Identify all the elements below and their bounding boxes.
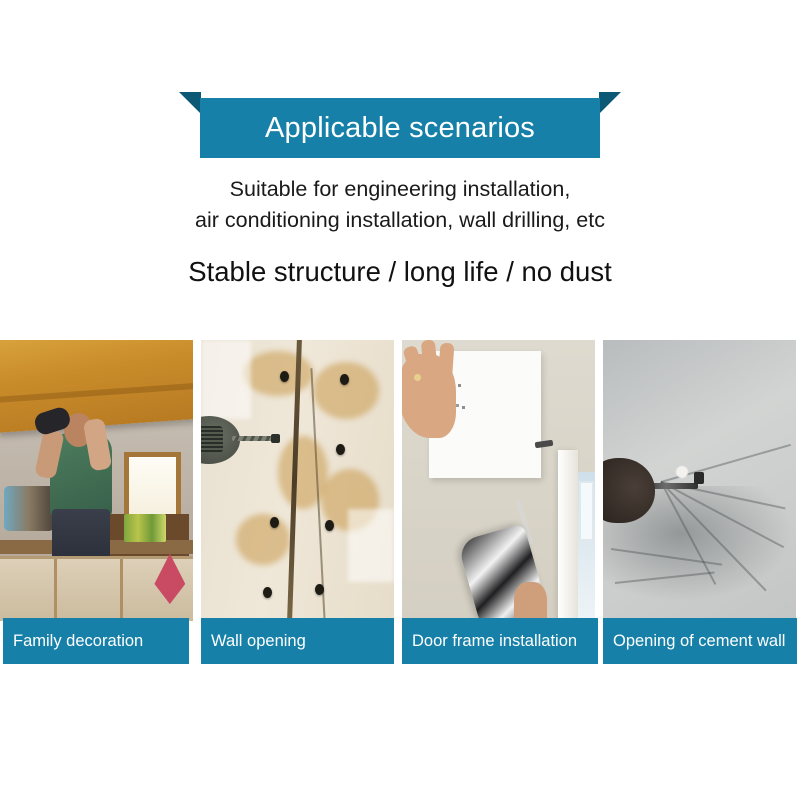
- drill-tip-shape: [694, 472, 704, 484]
- drilled-hole-shape: [280, 371, 289, 382]
- scenario-gallery: Family decoration Wall opening: [0, 340, 800, 670]
- drilled-hole-shape: [336, 444, 345, 455]
- ribbon-tail-right-icon: [599, 92, 621, 114]
- scenario-panel-family-decoration[interactable]: Family decoration: [0, 340, 193, 621]
- patch-shape: [201, 340, 251, 419]
- banner-ribbon: Applicable scenarios: [200, 92, 600, 158]
- photo-family-decoration: [0, 340, 193, 621]
- ribbon-tail-left-icon: [179, 92, 201, 114]
- finger-shape: [437, 342, 453, 385]
- subtitle-line-1: Suitable for engineering installation,: [0, 174, 800, 205]
- clutter-shape: [4, 486, 54, 531]
- ring-shape: [414, 374, 421, 381]
- drilled-hole-shape: [340, 374, 349, 385]
- stain-shape: [243, 351, 312, 396]
- drilled-hole-shape: [325, 520, 334, 531]
- headline-text: Stable structure / long life / no dust: [0, 255, 800, 288]
- scenario-panel-door-frame-installation[interactable]: Door frame installation: [402, 340, 595, 621]
- drill-bit-icon: [232, 436, 274, 441]
- scenario-panel-wall-opening[interactable]: Wall opening: [201, 340, 394, 621]
- header-section: Applicable scenarios Suitable for engine…: [0, 0, 800, 288]
- drilled-hole-shape: [263, 587, 272, 598]
- door-opening-shape: [578, 472, 595, 621]
- panel-caption: Family decoration: [3, 618, 189, 664]
- patch-shape: [348, 509, 394, 582]
- subtitle-block: Suitable for engineering installation, a…: [0, 174, 800, 237]
- stain-shape: [313, 362, 379, 418]
- subtitle-line-2: air conditioning installation, wall dril…: [0, 205, 800, 236]
- door-jamb-shape: [558, 450, 577, 621]
- banner-body: Applicable scenarios: [200, 98, 600, 158]
- panel-caption: Opening of cement wall: [603, 618, 797, 664]
- photo-door-frame-installation: [402, 340, 595, 621]
- drill-spark-shape: [676, 466, 688, 478]
- panel-caption: Wall opening: [201, 618, 394, 664]
- scenario-panel-opening-cement-wall[interactable]: Opening of cement wall: [603, 340, 796, 621]
- screws-shape: [534, 440, 553, 448]
- hand-holding-drill-shape: [514, 582, 547, 621]
- panel-caption: Door frame installation: [402, 618, 598, 664]
- stain-shape: [236, 514, 290, 565]
- bottles-shape: [124, 514, 166, 542]
- photo-wall-opening: [201, 340, 394, 621]
- photo-opening-cement-wall: [603, 340, 796, 621]
- banner-title: Applicable scenarios: [265, 114, 535, 143]
